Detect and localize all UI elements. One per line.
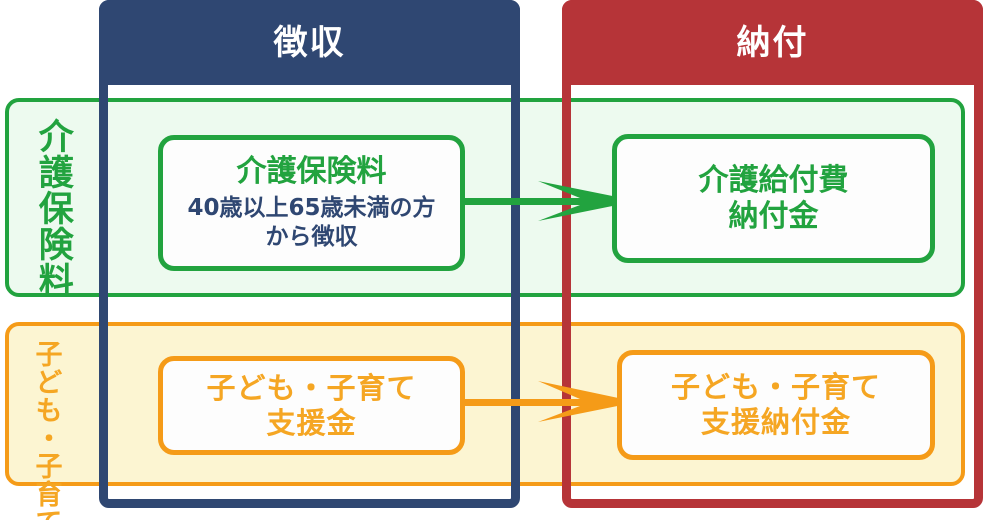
card-care-insurance-premium-title: 介護保険料 [237, 154, 387, 190]
band-label-child-support: 子ども・子育て [32, 340, 60, 520]
column-collection-header: 徴収 [99, 0, 520, 85]
card-child-support-payment[interactable]: 子ども・子育て 支援納付金 [617, 350, 935, 460]
card-care-benefit-payment-title: 介護給付費 納付金 [699, 163, 849, 235]
card-care-insurance-premium-subtitle: 40歳以上65歳未満の方 から徴収 [187, 194, 435, 252]
column-payment-header: 納付 [562, 0, 983, 85]
card-child-support-levy-title: 子ども・子育て 支援金 [206, 371, 416, 441]
card-care-insurance-premium[interactable]: 介護保険料 40歳以上65歳未満の方 から徴収 [158, 135, 465, 271]
band-label-care-insurance: 介護保険料 [34, 118, 70, 298]
card-child-support-payment-title: 子ども・子育て 支援納付金 [671, 370, 881, 440]
column-collection-title: 徴収 [274, 26, 346, 60]
column-payment-title: 納付 [737, 26, 809, 60]
card-child-support-levy[interactable]: 子ども・子育て 支援金 [158, 356, 465, 455]
diagram-canvas: 介護保険料 子ども・子育て 徴収 納付 介護保険料 40歳以上65歳未満の方 か… [0, 0, 990, 520]
card-care-benefit-payment[interactable]: 介護給付費 納付金 [612, 134, 935, 263]
